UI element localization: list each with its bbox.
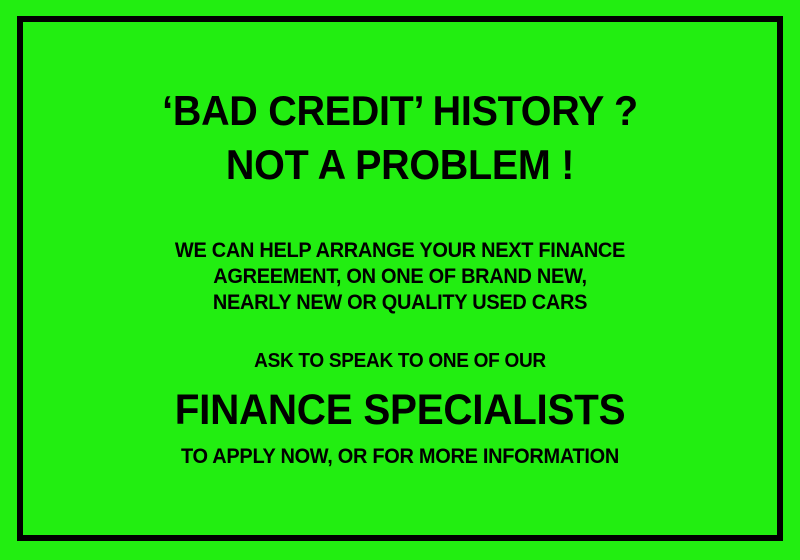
headline-block: ‘BAD CREDIT’ HISTORY ? NOT A PROBLEM !	[23, 84, 777, 192]
call-to-action-block: ASK TO SPEAK TO ONE OF OUR FINANCE SPECI…	[23, 348, 777, 470]
cta-footer-text: TO APPLY NOW, OR FOR MORE INFORMATION	[42, 444, 758, 470]
advert-poster: ‘BAD CREDIT’ HISTORY ? NOT A PROBLEM ! W…	[0, 0, 800, 560]
body-paragraph-block: WE CAN HELP ARRANGE YOUR NEXT FINANCE AG…	[23, 238, 777, 316]
cta-headline-text: FINANCE SPECIALISTS	[46, 382, 755, 438]
poster-content: ‘BAD CREDIT’ HISTORY ? NOT A PROBLEM ! W…	[23, 22, 777, 535]
body-line-1: WE CAN HELP ARRANGE YOUR NEXT FINANCE	[42, 238, 758, 264]
cta-lead-text: ASK TO SPEAK TO ONE OF OUR	[42, 348, 758, 374]
body-line-3: NEARLY NEW OR QUALITY USED CARS	[42, 290, 758, 316]
headline-line-1: ‘BAD CREDIT’ HISTORY ?	[46, 84, 755, 138]
headline-line-2: NOT A PROBLEM !	[46, 138, 755, 192]
body-line-2: AGREEMENT, ON ONE OF BRAND NEW,	[42, 264, 758, 290]
